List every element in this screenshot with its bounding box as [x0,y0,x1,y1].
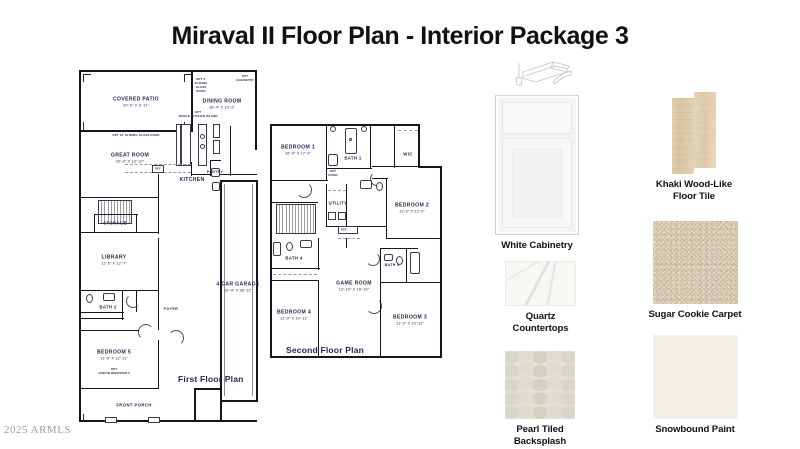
room-bedroom-2: BEDROOM 2 11'-0" X 12'-0" [395,202,429,213]
wall [346,238,347,248]
sink-fixture [103,293,115,301]
material-snowbound-paint[interactable]: Snowbound Paint [631,335,759,436]
wood-plank [694,92,716,168]
wall [158,198,159,234]
door-swing-icon [126,294,140,308]
wall [158,340,159,388]
second-floor-plan-label: Second Floor Plan [286,345,364,355]
wall [79,70,257,72]
room-garage: 4 CAR GARAGE 19'-4" X 36'-11" [216,281,259,292]
wall [79,330,139,331]
wall [184,74,185,82]
room-bath-1: BATH 1 [344,155,361,160]
room-great-room: GREAT ROOM 20'-0" X 13'-10" [111,152,149,163]
wall [191,70,193,94]
material-sugar-cookie-carpet[interactable]: Sugar Cookie Carpet [631,221,759,321]
wall [386,178,387,238]
wood-plank [672,98,694,174]
wall [394,124,395,168]
wall [270,356,442,358]
wall [158,290,159,330]
kitchen-island [181,124,191,166]
material-pearl-backsplash[interactable]: Pearl Tiled Backsplash [505,351,575,447]
khaki-floor-tile-caption: Khaki Wood-Like Floor Tile [630,179,758,202]
wall [380,282,440,283]
bathtub-fixture [345,128,357,154]
wall [270,294,272,358]
pearl-backsplash-swatch[interactable] [505,351,575,419]
wall [220,180,222,420]
option-12ft-sliding-glass-door: OPT 12' SLIDING GLASS DOOR [112,134,159,138]
watermark: 2025 ARMLS [4,424,71,436]
snowbound-paint-swatch[interactable] [653,335,738,419]
option-sliding-glass-door: OPT 6' SLIDING GLASS DOOR [195,78,208,94]
cabinet-door-inner-panel [512,148,562,218]
room-pantry: PANTRY [207,170,223,174]
room-bedroom-1: BEDROOM 1 16'-9" X 17'-0" [281,144,315,155]
floor-plans-region: REF [70,62,490,422]
oven-fixture [213,140,220,154]
cabinet-drawer-panel [502,102,572,134]
wall [418,124,420,166]
porch-column [105,417,117,423]
wall [220,180,258,182]
white-cabinetry-swatch[interactable] [495,95,579,235]
room-bath-2: BATH 2 [99,304,116,309]
tile-column [533,351,547,419]
material-white-cabinetry[interactable]: White Cabinetry [495,95,579,252]
wall [79,70,81,132]
wall [79,290,159,291]
wall [380,248,381,282]
tile-column [561,351,575,419]
wall [83,74,91,75]
page-title: Miraval II Floor Plan - Interior Package… [0,22,800,51]
wall [83,74,84,82]
tub-drain-icon [349,138,352,141]
quartz-countertops-swatch[interactable] [505,261,576,306]
wall [83,122,84,130]
room-front-porch: FRONT PORCH [116,402,151,407]
wall [326,124,327,180]
option-cabinetry: OPT CABINETRY [236,75,254,83]
toilet-fixture [86,294,93,303]
washer-fixture [328,212,336,220]
wall [136,214,137,232]
wall [255,70,257,150]
door-swing-icon [168,330,184,346]
option-single-kitchen-island: OPT SINGLE KITCHEN ISLAND [178,111,217,119]
room-dining: DINING ROOM 16'-4" X 10'-2" [203,98,242,109]
room-bath-4: BATH 4 [285,255,302,260]
room-bedroom-4: BEDROOM 4 11'-9" X 10'-11" [277,309,311,320]
wall [94,214,138,215]
cooktop-burner-icon [200,144,205,149]
fridge-label-2: REF [341,228,347,232]
quartz-countertops-caption: Quartz Countertops [505,311,576,334]
wall [380,248,418,249]
wall [158,174,159,198]
wall [194,388,222,390]
room-game-room: GAME ROOM 12'-10" X 16'-10" [336,280,372,291]
wall [220,400,258,402]
wall [79,318,124,319]
door-swing-icon [138,324,154,340]
fridge-label: REF [155,167,161,171]
sink-fixture [384,254,393,261]
tile-column [519,351,533,419]
counter-edge [338,238,360,239]
wall [79,388,159,389]
room-foyer: FOYER [164,307,178,311]
door-swing-icon [366,252,380,266]
wall [79,232,159,233]
sugar-cookie-carpet-swatch[interactable] [653,221,738,304]
sugar-cookie-carpet-caption: Sugar Cookie Carpet [631,309,759,321]
wall [83,414,84,422]
wall [79,388,81,422]
cabinet-pull-sketch-icon [513,58,575,97]
wall [79,197,159,198]
wall [220,388,222,402]
room-bedroom-3: BEDROOM 3 11'-0" X 10'-11" [393,314,427,325]
option-door: OPT DOOR [328,170,337,178]
room-bedroom-5: BEDROOM 5 11'-9" X 12'-11" [97,349,131,360]
room-wic: WIC [403,151,412,156]
wall [418,166,442,168]
sink-fixture [330,126,336,132]
wall [370,124,371,168]
wall [122,312,123,320]
toilet-fixture [376,182,383,191]
pearl-backsplash-caption: Pearl Tiled Backsplash [505,424,575,447]
material-quartz-countertops[interactable]: Quartz Countertops [505,261,576,334]
tile-column [505,351,519,419]
wall [79,312,124,313]
wall [270,124,420,126]
dryer-fixture [338,212,346,220]
wall [230,126,231,176]
staircase [276,204,316,234]
room-library: LIBRARY 11'-5" X 12'-7" [101,254,127,265]
wall [406,248,407,282]
room-utility: UTILITY [329,200,348,205]
room-kitchen: KITCHEN [179,177,204,183]
room-covered-patio: COVERED PATIO 20'-0" X 9'-11" [113,96,159,107]
wall [270,202,318,203]
sink-fixture [361,126,367,132]
sink-fixture [300,240,312,248]
cabinet-door-panel [502,138,572,228]
white-cabinetry-caption: White Cabinetry [495,240,579,252]
sink-fixture [360,180,372,189]
oven-fixture [213,124,220,138]
wall [440,166,442,358]
wall [386,238,440,239]
wall [210,160,221,161]
wall [380,282,381,356]
room-bath-3: BATH 3 [385,263,400,267]
wall [270,268,320,269]
first-floor-plan-label: First Floor Plan [178,374,244,384]
wall [122,290,123,312]
porch-column [148,417,160,423]
shower-fixture [328,154,338,166]
closet-shelf [273,274,317,275]
wall [191,162,192,176]
wall [194,388,196,422]
toilet-fixture [286,242,293,251]
tile-column [547,351,561,419]
wall [270,180,328,181]
counter-edge [328,190,346,191]
door-swing-icon [296,182,312,198]
wall [191,174,257,175]
wall [270,280,318,281]
appliance-fixture [212,182,220,191]
shower-fixture [273,242,281,256]
wall [94,214,95,232]
material-khaki-floor-tile[interactable]: Khaki Wood-Like Floor Tile [661,92,758,202]
shelf [398,130,418,131]
wall [372,166,418,167]
cooktop-burner-icon [200,134,205,139]
bathtub-fixture [410,252,420,274]
materials-panel: White Cabinetry Quartz Countertops [495,58,795,433]
wall [318,238,319,270]
wall [158,238,159,292]
snowbound-paint-caption: Snowbound Paint [631,424,759,436]
option-junior-bedroom-5: OPT JUNIOR BEDROOM 5 [98,368,130,376]
room-storage: STORAGE [103,220,127,225]
khaki-floor-tile-swatch[interactable] [672,92,724,174]
